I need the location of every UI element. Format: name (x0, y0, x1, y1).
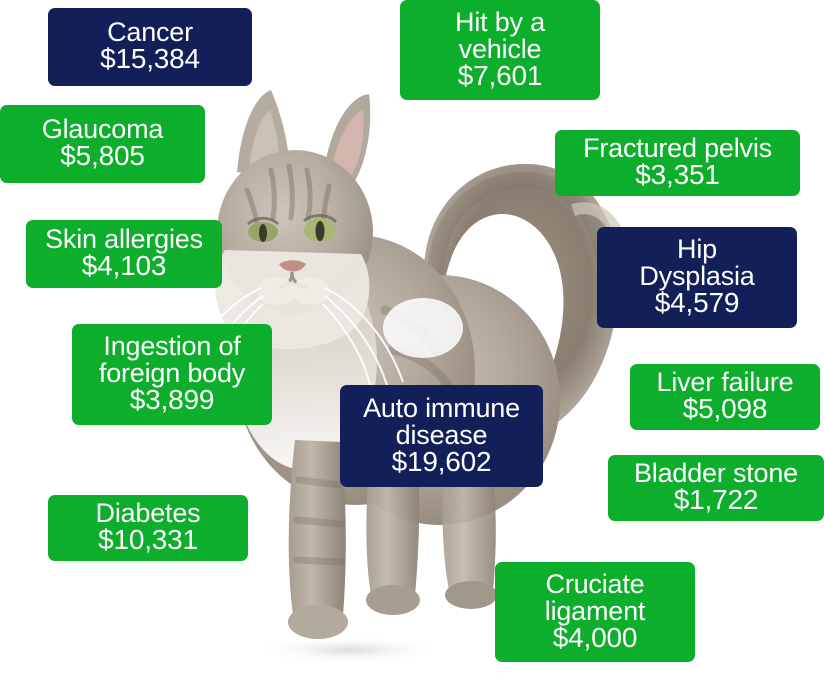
condition-amount: $3,899 (130, 386, 214, 414)
cost-label-auto-immune-disease[interactable]: Auto immune disease $19,602 (340, 385, 543, 487)
cost-label-bladder-stone[interactable]: Bladder stone $1,722 (608, 455, 824, 521)
condition-name: Bladder stone (634, 460, 798, 487)
condition-amount: $4,103 (82, 252, 166, 280)
condition-name: Cancer (107, 19, 193, 46)
condition-amount: $4,000 (553, 624, 637, 652)
condition-name: Cruciate ligament (545, 571, 645, 625)
cost-label-liver-failure[interactable]: Liver failure $5,098 (630, 364, 820, 430)
infographic-canvas: Cancer $15,384 Hit by a vehicle $7,601 G… (0, 0, 824, 700)
cost-label-hit-by-a-vehicle[interactable]: Hit by a vehicle $7,601 (400, 0, 600, 100)
condition-name: Diabetes (96, 500, 201, 527)
condition-name: Skin allergies (45, 226, 203, 253)
cost-label-hip-dysplasia[interactable]: Hip Dysplasia $4,579 (597, 227, 797, 328)
condition-name: Ingestion of foreign body (99, 333, 245, 387)
condition-name: Glaucoma (42, 116, 163, 143)
cost-label-skin-allergies[interactable]: Skin allergies $4,103 (26, 220, 222, 288)
cost-label-diabetes[interactable]: Diabetes $10,331 (48, 495, 248, 561)
condition-amount: $5,805 (60, 142, 144, 170)
condition-name: Liver failure (657, 369, 794, 396)
condition-amount: $3,351 (635, 161, 719, 189)
cost-label-glaucoma[interactable]: Glaucoma $5,805 (0, 105, 205, 183)
condition-name: Auto immune disease (363, 395, 520, 449)
condition-amount: $19,602 (392, 448, 492, 476)
cost-label-cruciate-ligament[interactable]: Cruciate ligament $4,000 (495, 562, 695, 662)
condition-amount: $15,384 (100, 45, 200, 73)
condition-amount: $5,098 (683, 395, 767, 423)
condition-amount: $7,601 (458, 62, 542, 90)
cost-label-cancer[interactable]: Cancer $15,384 (48, 8, 252, 86)
condition-name: Hit by a vehicle (455, 9, 545, 63)
condition-amount: $1,722 (674, 486, 758, 514)
condition-amount: $4,579 (655, 289, 739, 317)
condition-name: Hip Dysplasia (639, 236, 754, 290)
condition-amount: $10,331 (98, 526, 198, 554)
cost-label-ingestion-of-foreign-body[interactable]: Ingestion of foreign body $3,899 (72, 324, 272, 425)
condition-name: Fractured pelvis (583, 135, 772, 162)
cost-label-fractured-pelvis[interactable]: Fractured pelvis $3,351 (555, 130, 800, 196)
